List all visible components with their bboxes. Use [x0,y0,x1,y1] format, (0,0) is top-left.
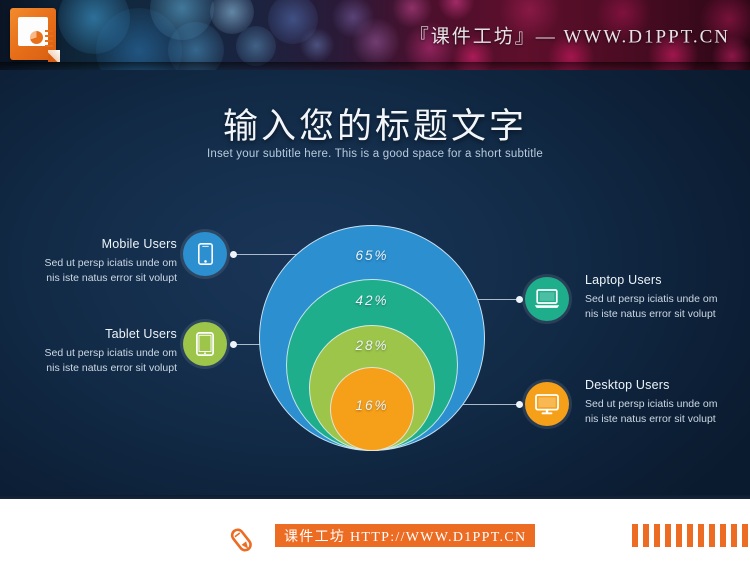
top-banner: 『课件工坊』— WWW.D1PPT.CN [0,0,750,70]
logo-line [45,30,53,32]
badge-desktop[interactable] [525,382,569,426]
connector-dot-tablet [230,341,237,348]
label-desc-tablet-line1: Sed ut persp iciatis unde om [0,346,177,361]
desktop-monitor-icon [535,394,559,415]
bokeh-blob [300,28,334,62]
label-desc-mobile-line2: nis iste natus error sit volupt [0,271,177,286]
connector-dot-desktop [516,401,523,408]
label-desc-laptop-line2: nis iste natus error sit volupt [585,307,750,322]
footer-stripes [632,524,748,547]
label-desc-desktop-line2: nis iste natus error sit volupt [585,412,750,427]
page-subtitle: Inset your subtitle here. This is a good… [0,148,750,160]
logo-line [45,40,53,42]
circle-value-laptop: 42% [248,293,496,308]
bokeh-blob [438,0,474,20]
label-desc-tablet-line2: nis iste natus error sit volupt [0,361,177,376]
connector-dot-laptop [516,296,523,303]
badge-mobile[interactable] [183,232,227,276]
label-title-desktop: Desktop Users [585,378,750,392]
logo-line [45,45,53,47]
badge-tablet[interactable] [183,322,227,366]
powerpoint-logo [10,8,60,62]
logo-fold [48,50,60,62]
circle-value-tablet: 28% [248,338,496,353]
bokeh-blob [236,26,276,66]
label-title-laptop: Laptop Users [585,273,750,287]
banner-watermark: 『课件工坊』— WWW.D1PPT.CN [410,22,730,49]
circle-value-desktop: 16% [248,398,496,413]
label-desc-desktop-line1: Sed ut persp iciatis unde om [585,397,750,412]
connector-dot-mobile [230,251,237,258]
footer: 课件工坊 HTTP://WWW.D1PPT.CN [0,495,750,563]
slide-body: 输入您的标题文字 Inset your subtitle here. This … [0,70,750,495]
footer-url-bar[interactable]: 课件工坊 HTTP://WWW.D1PPT.CN [275,524,535,547]
label-block-laptop: Laptop Users Sed ut persp iciatis unde o… [585,273,750,322]
label-desc-laptop-line1: Sed ut persp iciatis unde om [585,292,750,307]
nested-circle-chart: 65% 42% 28% 16% [248,220,496,458]
label-title-tablet: Tablet Users [0,327,177,341]
label-block-tablet: Tablet Users Sed ut persp iciatis unde o… [0,327,177,376]
bokeh-blob [168,22,224,70]
label-block-mobile: Mobile Users Sed ut persp iciatis unde o… [0,237,177,286]
logo-page [18,17,48,46]
pencil-icon [228,521,264,553]
logo-line [45,35,53,37]
label-block-desktop: Desktop Users Sed ut persp iciatis unde … [585,378,750,427]
footer-top-rule [0,495,750,499]
mobile-phone-icon [198,243,213,265]
label-title-mobile: Mobile Users [0,237,177,251]
footer-url-text: 课件工坊 HTTP://WWW.D1PPT.CN [284,526,526,546]
logo-pie-icon [30,31,43,44]
page-title: 输入您的标题文字 [0,98,750,149]
badge-laptop[interactable] [525,277,569,321]
tablet-icon [196,332,214,356]
label-desc-mobile-line1: Sed ut persp iciatis unde om [0,256,177,271]
laptop-icon [534,289,560,309]
circle-value-mobile: 65% [248,248,496,263]
bokeh-blob [352,18,400,66]
slide-canvas: 『课件工坊』— WWW.D1PPT.CN 输入您的标题文字 Inset your… [0,0,750,563]
